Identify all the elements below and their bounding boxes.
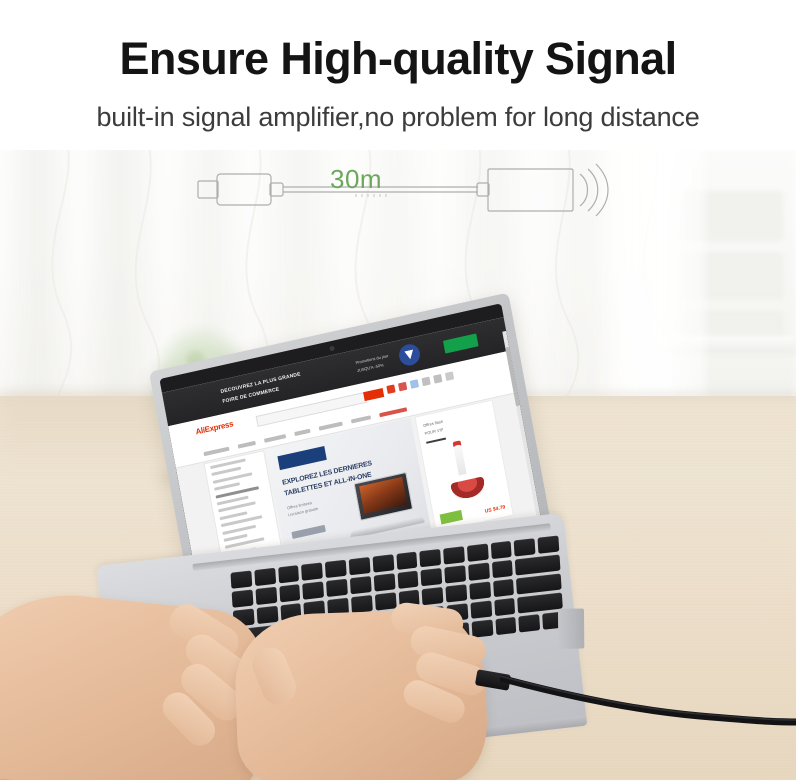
- hero-cta-button[interactable]: [291, 525, 325, 539]
- nav-item[interactable]: [294, 429, 310, 436]
- usb-connector-tip: [198, 181, 218, 198]
- search-button[interactable]: [363, 388, 384, 401]
- banner-subline: Promotions du jourJUSQU'A -50%: [355, 352, 391, 376]
- nav-item[interactable]: [264, 434, 286, 443]
- key-arrow-up[interactable]: [495, 617, 517, 635]
- key[interactable]: [444, 565, 466, 583]
- key[interactable]: [375, 592, 397, 610]
- signal-amplifier-box: [488, 169, 573, 211]
- key[interactable]: [396, 552, 418, 570]
- nav-item-promo[interactable]: [379, 407, 407, 417]
- adapter-strain-relief: [477, 183, 489, 196]
- nav-item[interactable]: [203, 447, 229, 457]
- help-icon[interactable]: [421, 377, 430, 387]
- site-logo[interactable]: AliExpress: [195, 419, 234, 436]
- account-icon[interactable]: [410, 379, 419, 389]
- cart-icon[interactable]: [386, 384, 395, 394]
- webcam-icon: [329, 345, 335, 351]
- key-arrow-left[interactable]: [471, 620, 493, 638]
- key[interactable]: [443, 546, 465, 564]
- promo-badge: [440, 510, 463, 525]
- play-badge-icon[interactable]: [397, 342, 421, 367]
- key-shift-right[interactable]: [518, 592, 563, 613]
- nav-item[interactable]: [351, 415, 371, 423]
- sidebar-item[interactable]: [224, 534, 248, 542]
- key[interactable]: [301, 562, 323, 580]
- usb-connector-body: [217, 174, 271, 205]
- key-arrow-down[interactable]: [519, 614, 541, 632]
- nav-item[interactable]: [238, 441, 256, 449]
- key[interactable]: [490, 541, 512, 559]
- header-icons[interactable]: [386, 371, 454, 394]
- key[interactable]: [494, 598, 516, 616]
- nav-item[interactable]: [319, 422, 343, 431]
- key[interactable]: [397, 571, 419, 589]
- key[interactable]: [468, 563, 490, 581]
- promo-title: Offres flashPOUR VIP: [422, 418, 445, 437]
- hero-brand-badge: [277, 446, 326, 470]
- usb-port: [558, 609, 584, 649]
- key[interactable]: [493, 579, 515, 597]
- key[interactable]: [514, 538, 536, 556]
- promo-card[interactable]: Offres flashPOUR VIP US $4.79: [414, 399, 514, 532]
- key[interactable]: [422, 587, 444, 605]
- key[interactable]: [373, 573, 395, 591]
- header-band: Ensure High-quality Signal built-in sign…: [0, 0, 796, 150]
- key[interactable]: [421, 568, 443, 586]
- promo-price: US $4.79: [484, 504, 505, 514]
- key[interactable]: [350, 576, 372, 594]
- key[interactable]: [467, 544, 489, 562]
- key-return[interactable]: [516, 573, 561, 594]
- key[interactable]: [470, 601, 492, 619]
- signal-wave-2: [588, 169, 598, 211]
- key[interactable]: [538, 535, 560, 553]
- key[interactable]: [279, 584, 301, 602]
- hero-body: Offres limiteesLivraison gratuite: [286, 498, 318, 519]
- sidebar-item[interactable]: [214, 482, 240, 491]
- cable-diagram: 30m: [0, 150, 796, 240]
- key-backspace[interactable]: [515, 554, 560, 575]
- key[interactable]: [232, 589, 254, 607]
- key[interactable]: [492, 560, 514, 578]
- page-title: Ensure High-quality Signal: [0, 36, 796, 81]
- usb-cable: [500, 660, 796, 740]
- key[interactable]: [230, 570, 252, 588]
- key[interactable]: [469, 582, 491, 600]
- promo-product-image: [440, 440, 493, 505]
- key[interactable]: [303, 581, 325, 599]
- wishlist-icon[interactable]: [398, 382, 407, 392]
- key[interactable]: [256, 606, 278, 624]
- key[interactable]: [372, 554, 394, 572]
- page-subtitle: built-in signal amplifier,no problem for…: [0, 102, 796, 133]
- product-feature-banner: DECOUVREZ LA PLUS GRANDEFOIRE DE COMMERC…: [0, 0, 796, 780]
- key[interactable]: [349, 557, 371, 575]
- right-hand: [233, 608, 489, 780]
- key[interactable]: [326, 579, 348, 597]
- banner-cta-button[interactable]: [443, 333, 479, 353]
- menu-icon[interactable]: [445, 371, 454, 381]
- key[interactable]: [445, 584, 467, 602]
- signal-wave-1: [580, 174, 588, 206]
- key[interactable]: [351, 595, 373, 613]
- cable-diagram-svg: [0, 150, 796, 240]
- key[interactable]: [254, 568, 276, 586]
- key[interactable]: [278, 565, 300, 583]
- lang-icon[interactable]: [433, 374, 442, 384]
- distance-label: 30m: [330, 166, 382, 192]
- usb-strain-relief: [270, 183, 283, 196]
- key[interactable]: [325, 560, 347, 578]
- key[interactable]: [420, 549, 442, 567]
- key[interactable]: [255, 587, 277, 605]
